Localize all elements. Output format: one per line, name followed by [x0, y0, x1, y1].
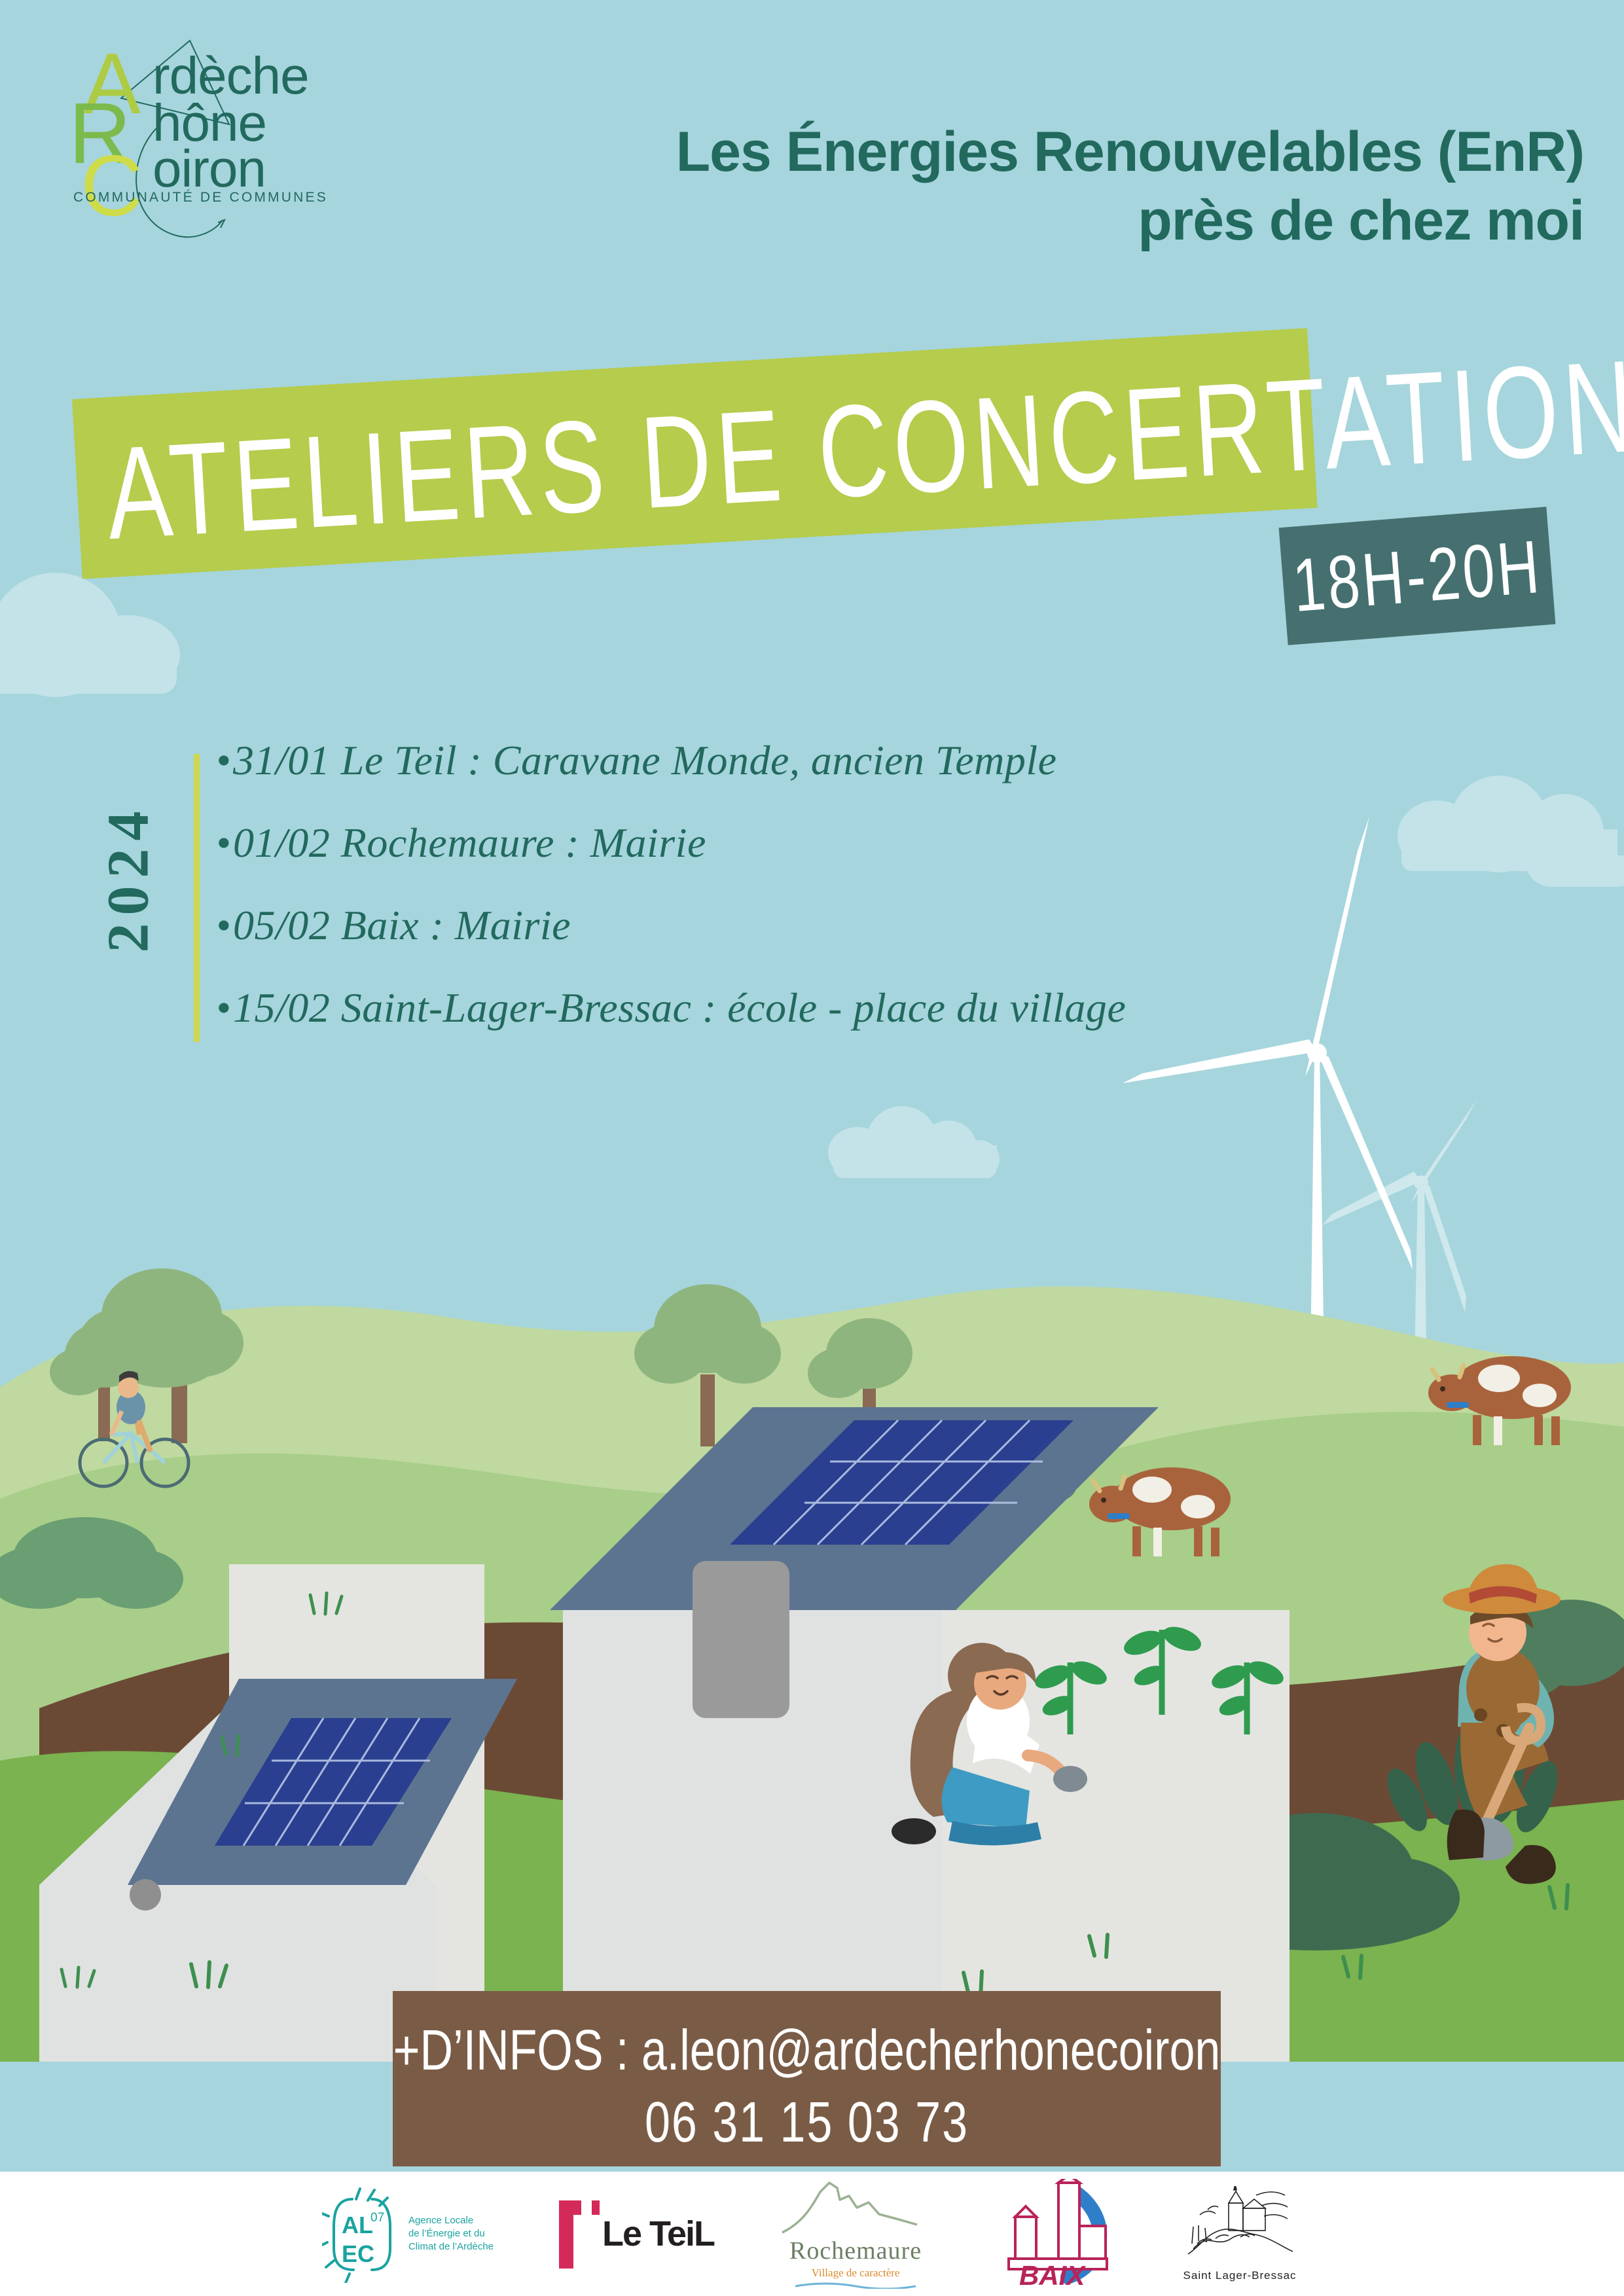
logo-subtitle: COMMUNAUTÉ DE COMMUNES — [73, 190, 328, 206]
rochemaure-tagline: Village de caractère — [812, 2267, 900, 2280]
le-teil-wordmark: Le TeiL — [602, 2214, 714, 2254]
alec-line-2: de l’Énergie et du — [408, 2227, 494, 2240]
title-line-1: Les Énergies Renouvelables (EnR) — [676, 120, 1584, 183]
svg-text:EC: EC — [342, 2240, 374, 2267]
le-teil-mark-icon — [556, 2195, 602, 2272]
alec-line-1: Agence Locale — [408, 2214, 494, 2227]
partner-logo-bar: AL EC 07 Agence Locale de l’Énergie et d… — [0, 2172, 1624, 2296]
partner-logo-alec07: AL EC 07 Agence Locale de l’Énergie et d… — [322, 2178, 494, 2289]
contact-email[interactable]: +D’INFOS : a.leon@ardecherhonecoiron — [393, 2017, 1221, 2083]
hours-badge: 18H-20H — [1279, 507, 1556, 645]
contact-info-box: +D’INFOS : a.leon@ardecherhonecoiron 06 … — [393, 1991, 1221, 2166]
saint-lager-bressac-wordmark: Saint Lager-Bressac — [1183, 2269, 1297, 2282]
svg-text:AL: AL — [342, 2212, 373, 2238]
rochemaure-wordmark: Rochemaure — [789, 2236, 922, 2265]
poster-root: A R C rdèche hône oiron COMMUNAUTÉ DE CO… — [0, 0, 1624, 2296]
svg-text:07: 07 — [370, 2211, 384, 2225]
partner-logo-rochemaure: Rochemaure Village de caractère — [777, 2178, 934, 2289]
baix-wordmark: BAIX — [1019, 2260, 1087, 2289]
landscape-illustration — [0, 1191, 1624, 2062]
baix-village-icon: BAIX — [997, 2179, 1115, 2289]
rochemaure-rock-icon — [777, 2179, 934, 2235]
rochemaure-underline-icon — [790, 2281, 921, 2289]
page-title: Les Énergies Renouvelables (EnR) près de… — [432, 118, 1584, 255]
partner-logo-le-teil: Le TeiL — [556, 2178, 714, 2289]
alec-tagline: Agence Locale de l’Énergie et du Climat … — [408, 2214, 494, 2254]
hours-label: 18H-20H — [1280, 522, 1554, 630]
contact-phone[interactable]: 06 31 15 03 73 — [393, 2089, 1221, 2155]
logo-letter-c: C — [81, 136, 143, 235]
title-line-2: près de chez moi — [432, 187, 1584, 255]
brand-logo: A R C rdèche hône oiron — [56, 26, 396, 144]
landscape-svg — [0, 1191, 1624, 2062]
alec-mark-icon: AL EC 07 — [322, 2185, 401, 2283]
saint-lager-bressac-sketch-icon — [1178, 2186, 1302, 2268]
alec-line-3: Climat de l’Ardèche — [408, 2240, 494, 2253]
partner-logo-baix: BAIX — [997, 2178, 1115, 2289]
partner-logo-saint-lager-bressac: Saint Lager-Bressac — [1178, 2178, 1302, 2289]
